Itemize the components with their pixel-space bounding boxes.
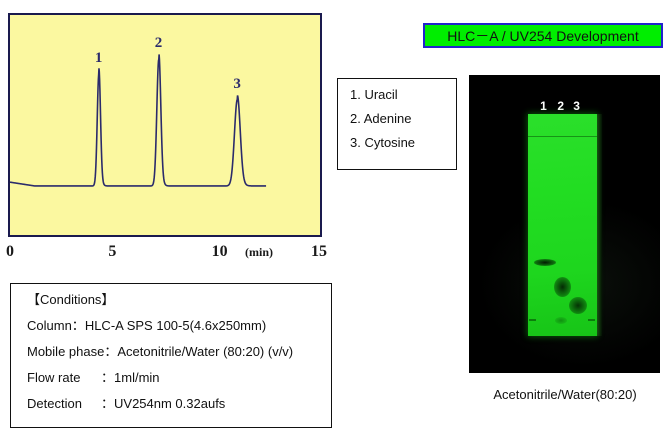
condition-row-mobile-phase: Mobile phase：Acetonitrile/Water (80:20) … [27,345,331,358]
condition-label-flow-rate: Flow rate [27,371,101,384]
tlc-spot-uracil [534,259,556,266]
conditions-box: 【Conditions】 Column：HLC-A SPS 100-5(4.6x… [10,283,332,428]
tlc-lane-number-3: 3 [573,100,580,112]
tlc-spot-cytosine [569,297,587,314]
tlc-lane-number-2: 2 [557,100,564,112]
condition-value-column: HLC-A SPS 100-5(4.6x250mm) [85,318,266,333]
conditions-title: 【Conditions】 [27,293,331,306]
tlc-plate [528,114,597,336]
condition-label-mobile-phase: Mobile phase [27,345,104,358]
tlc-origin-spot [555,317,567,324]
condition-separator-column: ： [72,318,85,333]
condition-separator-flow-rate: ： [101,370,114,385]
tlc-lane-number-1: 1 [540,100,547,112]
peak-label-2: 2 [155,36,163,51]
peak-label-3: 3 [233,77,241,92]
condition-label-column: Column [27,319,72,332]
chromatogram-panel: 1 2 3 [8,13,322,237]
tlc-origin-mark-right [588,319,595,321]
condition-row-flow-rate: Flow rate：1ml/min [27,371,331,384]
legend-item-1: 1. Uracil [350,88,456,101]
x-axis-labels: 0 5 10 15 (min) [0,238,340,264]
development-banner: HLC－A / UV254 Development [423,23,663,48]
tlc-plate-edge [597,114,602,336]
x-axis-unit-label: (min) [245,246,273,258]
tlc-plate-photo: 1 2 3 [469,75,660,373]
compound-legend-box: 1. Uracil 2. Adenine 3. Cytosine [337,78,457,170]
condition-row-detection: Detection：UV254nm 0.32aufs [27,397,331,410]
x-tick-label-10: 10 [212,244,228,260]
development-banner-title: HLC－A / UV254 Development [447,26,638,46]
condition-value-flow-rate: 1ml/min [114,370,160,385]
tlc-caption: Acetonitrile/Water(80:20) [455,388,671,401]
legend-item-2: 2. Adenine [350,112,456,125]
condition-separator-detection: ： [101,396,114,411]
condition-value-detection: UV254nm 0.32aufs [114,396,225,411]
condition-row-column: Column：HLC-A SPS 100-5(4.6x250mm) [27,319,331,332]
condition-label-detection: Detection [27,397,101,410]
tlc-solvent-front-line [528,136,597,137]
x-tick-label-15: 15 [311,244,327,260]
x-tick-label-5: 5 [108,244,116,260]
peak-label-1: 1 [95,51,103,66]
x-tick-label-0: 0 [6,244,14,260]
tlc-spot-adenine [554,277,571,297]
chromatogram-trace [8,13,322,237]
tlc-origin-mark-left [529,319,536,321]
legend-item-3: 3. Cytosine [350,136,456,149]
condition-value-mobile-phase: Acetonitrile/Water (80:20) (v/v) [117,344,293,359]
condition-separator-mobile-phase: ： [104,344,117,359]
